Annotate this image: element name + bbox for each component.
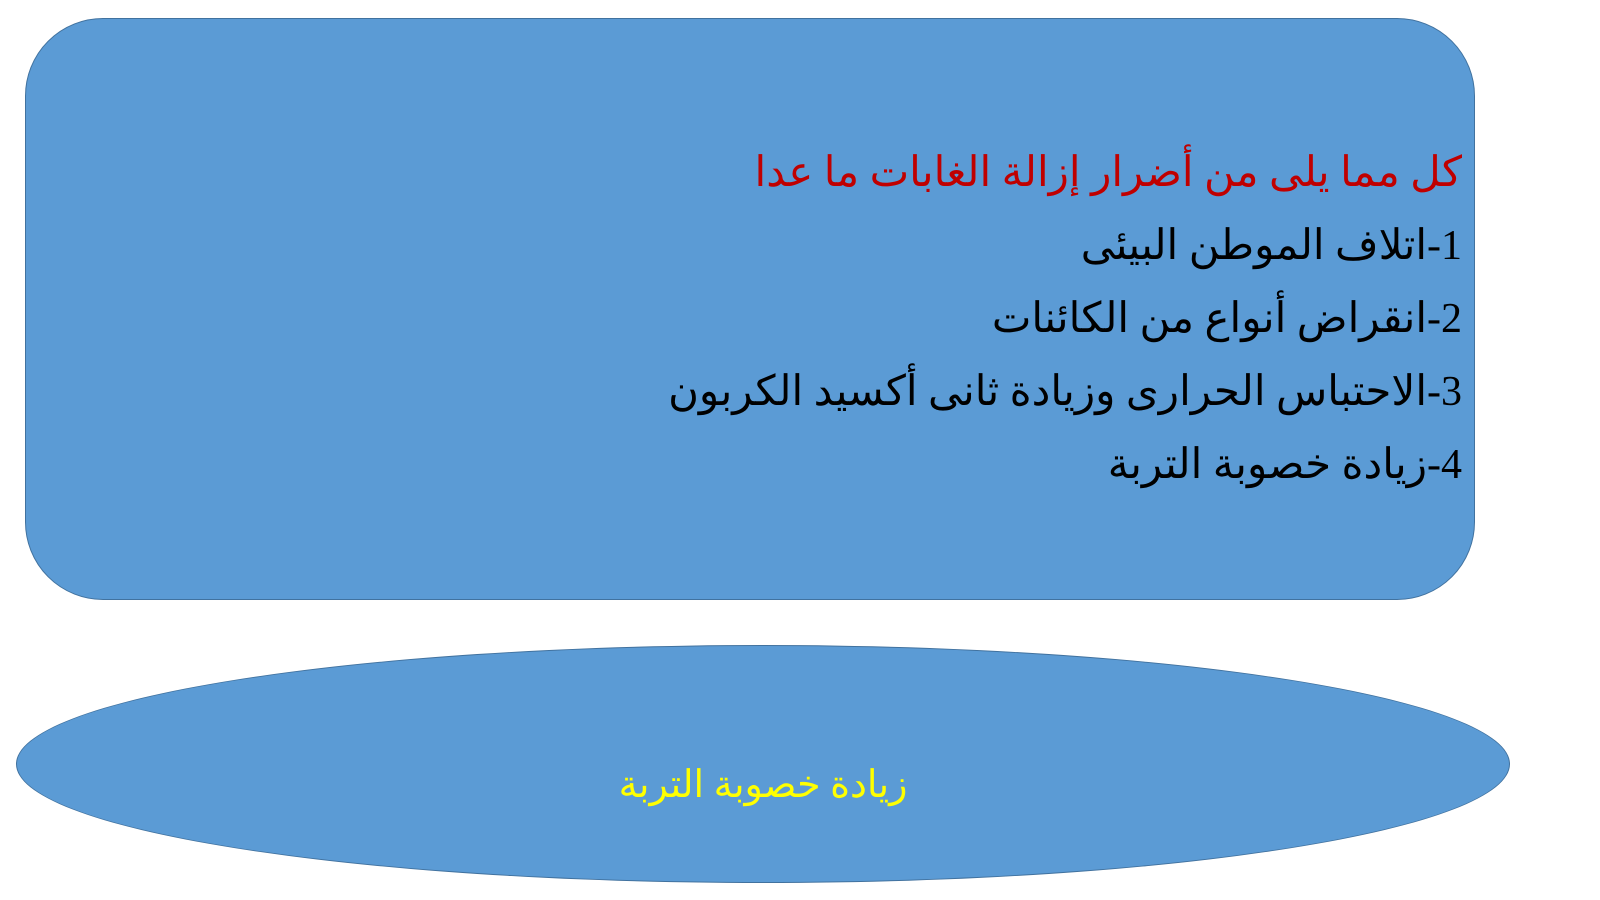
answer-option-1[interactable]: 1-اتلاف الموطن البيئى: [38, 210, 1462, 283]
question-card: كل مما يلى من أضرار إزالة الغابات ما عدا…: [25, 18, 1475, 600]
answer-oval-label: زيادة خصوبة التربة: [619, 763, 908, 809]
answer-option-4[interactable]: 4-زيادة خصوبة التربة: [38, 429, 1462, 502]
question-prompt: كل مما يلى من أضرار إزالة الغابات ما عدا: [38, 137, 1462, 210]
answer-option-2[interactable]: 2-انقراض أنواع من الكائنات: [38, 283, 1462, 356]
answer-oval: زيادة خصوبة التربة: [16, 645, 1510, 883]
answer-option-3[interactable]: 3-الاحتباس الحرارى وزيادة ثانى أكسيد الك…: [38, 356, 1462, 429]
